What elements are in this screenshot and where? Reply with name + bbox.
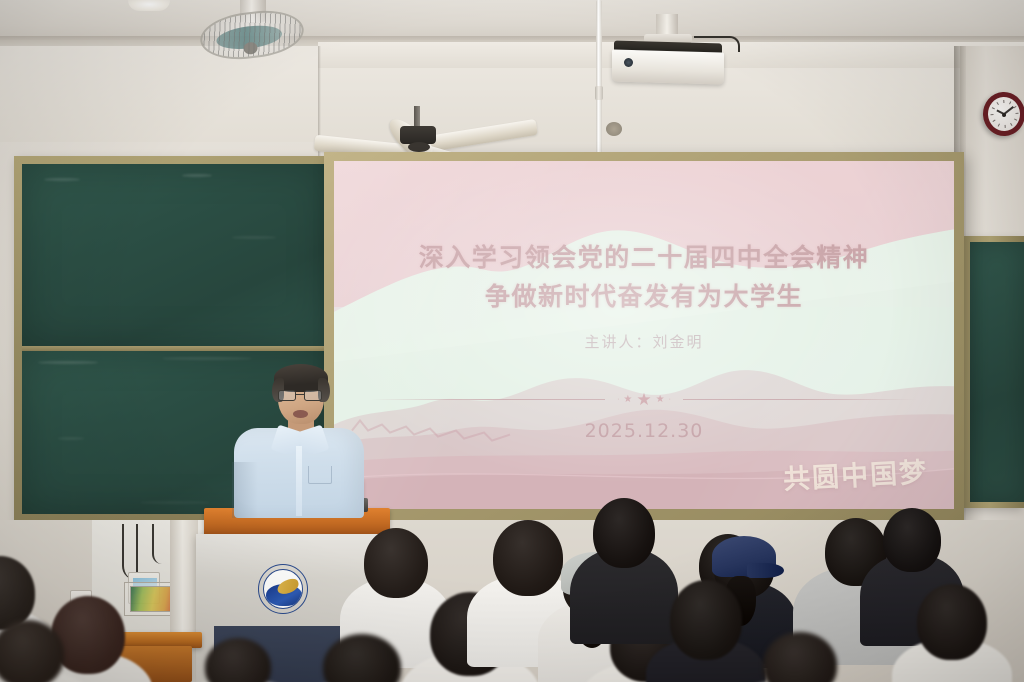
- divider-line-left: [371, 399, 605, 400]
- student-mid-aisle: [183, 638, 293, 682]
- slide-watermark-calligraphy: 共圆中国梦: [782, 450, 929, 497]
- projector: [608, 30, 726, 90]
- wall-socket: [606, 122, 622, 136]
- slide-title: 深入学习领会党的二十届四中全会精神 争做新时代奋发有为大学生: [419, 239, 870, 317]
- slide-date: 2025.12.30: [585, 420, 704, 442]
- student-head: [593, 498, 655, 568]
- eyeglasses-icon: [278, 390, 324, 401]
- presenter-shirt-pocket: [308, 466, 332, 484]
- projection-screen[interactable]: 深入学习领会党的二十届四中全会精神 争做新时代奋发有为大学生 主讲人：刘金明 ·…: [334, 161, 954, 509]
- wall-fan-cage: [198, 6, 307, 64]
- hanging-cable: [152, 524, 162, 564]
- student-left-front-blur: [0, 620, 90, 682]
- slide-star-divider: · ★ ★ ★ ·: [371, 390, 917, 410]
- university-emblem: [258, 564, 308, 614]
- presenter-shirt-shading: [232, 462, 258, 518]
- slide-title-line-1: 深入学习领会党的二十届四中全会精神: [419, 239, 870, 278]
- emblem-inner-ring: [263, 569, 303, 609]
- ceiling-fan-hub: [408, 142, 430, 152]
- student-head: [364, 528, 428, 598]
- student-head: [670, 580, 742, 660]
- student-front-right-edge: [736, 632, 864, 682]
- student-head: [917, 584, 987, 660]
- presenter-shirt-placket: [296, 446, 302, 516]
- student-head: [205, 638, 271, 682]
- projection-screen-frame: 深入学习领会党的二十届四中全会精神 争做新时代奋发有为大学生 主讲人：刘金明 ·…: [324, 152, 964, 520]
- chalkboard-right: [962, 236, 1024, 508]
- cap-brim: [747, 563, 784, 578]
- student-far-right-glasses: [892, 584, 1012, 682]
- divider-dot-left: ·: [617, 396, 619, 403]
- star-small-right-icon: ★: [656, 394, 665, 405]
- projector-lens: [624, 58, 633, 67]
- ceiling-light-fixture: [128, 0, 170, 11]
- presenter-at-podium: [234, 366, 364, 516]
- divider-stars: · ★ ★ ★ ·: [605, 390, 683, 410]
- wall-fan-grill: [200, 8, 307, 65]
- star-small-left-icon: ★: [623, 394, 632, 405]
- student-front-center-dark: [295, 634, 429, 682]
- star-large-icon: ★: [636, 390, 651, 410]
- slide-title-line-2: 争做新时代奋发有为大学生: [419, 278, 870, 317]
- chalkboard-right-surface: [970, 242, 1024, 502]
- clock-center-pin: [1002, 113, 1006, 117]
- student-head: [323, 634, 401, 682]
- lecture-hall-photo: 深入学习领会党的二十届四中全会精神 争做新时代奋发有为大学生 主讲人：刘金明 ·…: [0, 0, 1024, 682]
- wall-fan: [196, 0, 306, 58]
- projector-body: [612, 49, 724, 84]
- slide-presenter: 主讲人：刘金明: [584, 331, 703, 352]
- student-head: [763, 632, 837, 682]
- presenter-mouth: [293, 410, 308, 418]
- microphone-pole-joint: [595, 86, 603, 100]
- student-head: [0, 620, 64, 682]
- clock-face: [987, 96, 1021, 132]
- chalkboard-panel-upper: [22, 164, 326, 346]
- divider-dot-right: ·: [669, 396, 671, 403]
- student-head: [883, 508, 941, 572]
- ceiling-fan-rod: [414, 106, 420, 128]
- ceiling-fan-blade: [427, 119, 538, 152]
- divider-line-right: [683, 399, 917, 400]
